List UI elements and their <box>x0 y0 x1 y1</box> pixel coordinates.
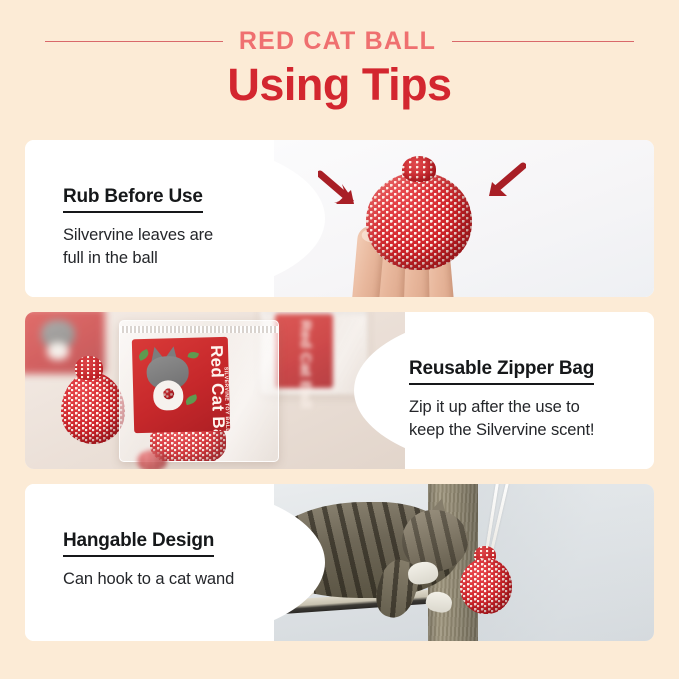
leaf-icon <box>185 394 199 405</box>
photo-hand-holding-ball <box>274 140 654 297</box>
background-ball-blur <box>137 450 167 469</box>
page-header: RED CAT BALL Using Tips <box>0 0 679 140</box>
leaf-icon <box>187 350 199 360</box>
eyebrow-row: RED CAT BALL <box>0 26 679 56</box>
product-brand-text-blur: Red Cat Ball <box>297 320 314 408</box>
brand-eyebrow: RED CAT BALL <box>239 29 436 54</box>
card-heading: Reusable Zipper Bag <box>409 358 594 385</box>
tip-card-hangable-design: Hangable Design Can hook to a cat wand <box>25 484 654 641</box>
page-title: Using Tips <box>0 60 679 110</box>
arrow-down-right-icon <box>318 170 364 210</box>
red-cat-ball <box>61 372 125 444</box>
tip-card-reusable-zipper-bag: Red Cat Ball <box>25 312 654 469</box>
card-body: Zip it up after the use to keep the Silv… <box>409 396 594 442</box>
red-cat-ball <box>366 172 472 270</box>
ball-knot <box>75 356 103 380</box>
divider-rule-right <box>452 41 634 42</box>
card-heading: Hangable Design <box>63 530 214 557</box>
card-heading: Rub Before Use <box>63 186 203 213</box>
card-body: Silvervine leaves are full in the ball <box>63 224 213 270</box>
tips-card-list: Rub Before Use Silvervine leaves are ful… <box>25 140 654 641</box>
photo-cat-with-hanging-ball <box>274 484 654 641</box>
product-label: Red Cat Ball SILVERVINE TOY BALL FOR CAT <box>132 337 230 433</box>
zipper-strip <box>120 326 278 333</box>
red-cat-ball <box>460 558 512 614</box>
photo-zipper-bags: Red Cat Ball <box>25 312 405 469</box>
card-body: Can hook to a cat wand <box>63 568 234 591</box>
arrow-down-left-icon <box>480 162 526 202</box>
divider-rule-left <box>45 41 223 42</box>
tip-card-rub-before-use: Rub Before Use Silvervine leaves are ful… <box>25 140 654 297</box>
cat-head <box>402 510 468 572</box>
ball-knot <box>402 156 436 182</box>
text-panel: Reusable Zipper Bag Zip it up after the … <box>354 312 654 469</box>
